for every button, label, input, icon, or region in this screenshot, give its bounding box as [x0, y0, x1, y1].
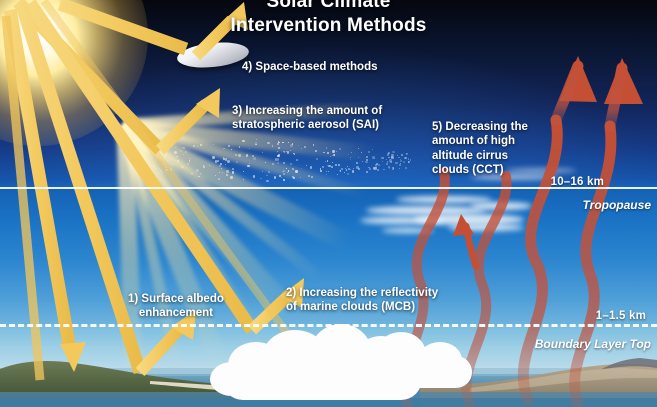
callout-cirrus-thinning: 5) Decreasing the amount of high altitud…: [432, 120, 528, 178]
solar-climate-intervention-diagram: Solar Climate Intervention Methods 4) Sp…: [0, 0, 657, 407]
title-line-2: Intervention Methods: [0, 14, 657, 38]
callout-surface-albedo: 1) Surface albedo enhancement: [128, 292, 224, 321]
boundary-layer-line: [0, 324, 657, 327]
callout-marine-cloud: 2) Increasing the reflectivity of marine…: [286, 286, 438, 315]
callout-space-based: 4) Space-based methods: [242, 60, 377, 74]
aerosol-particles-icon: [150, 138, 410, 182]
title-line-1: Solar Climate: [0, 0, 657, 14]
callout-strat-aerosol: 3) Increasing the amount of stratospheri…: [232, 104, 382, 133]
boundary-layer-altitude-label: 1–1.5 km: [596, 310, 646, 322]
tropopause-altitude-label: 10–16 km: [551, 176, 604, 188]
boundary-layer-label: Boundary Layer Top: [535, 337, 651, 351]
tropopause-label: Tropopause: [583, 198, 651, 212]
page-title: Solar Climate Intervention Methods: [0, 0, 657, 39]
